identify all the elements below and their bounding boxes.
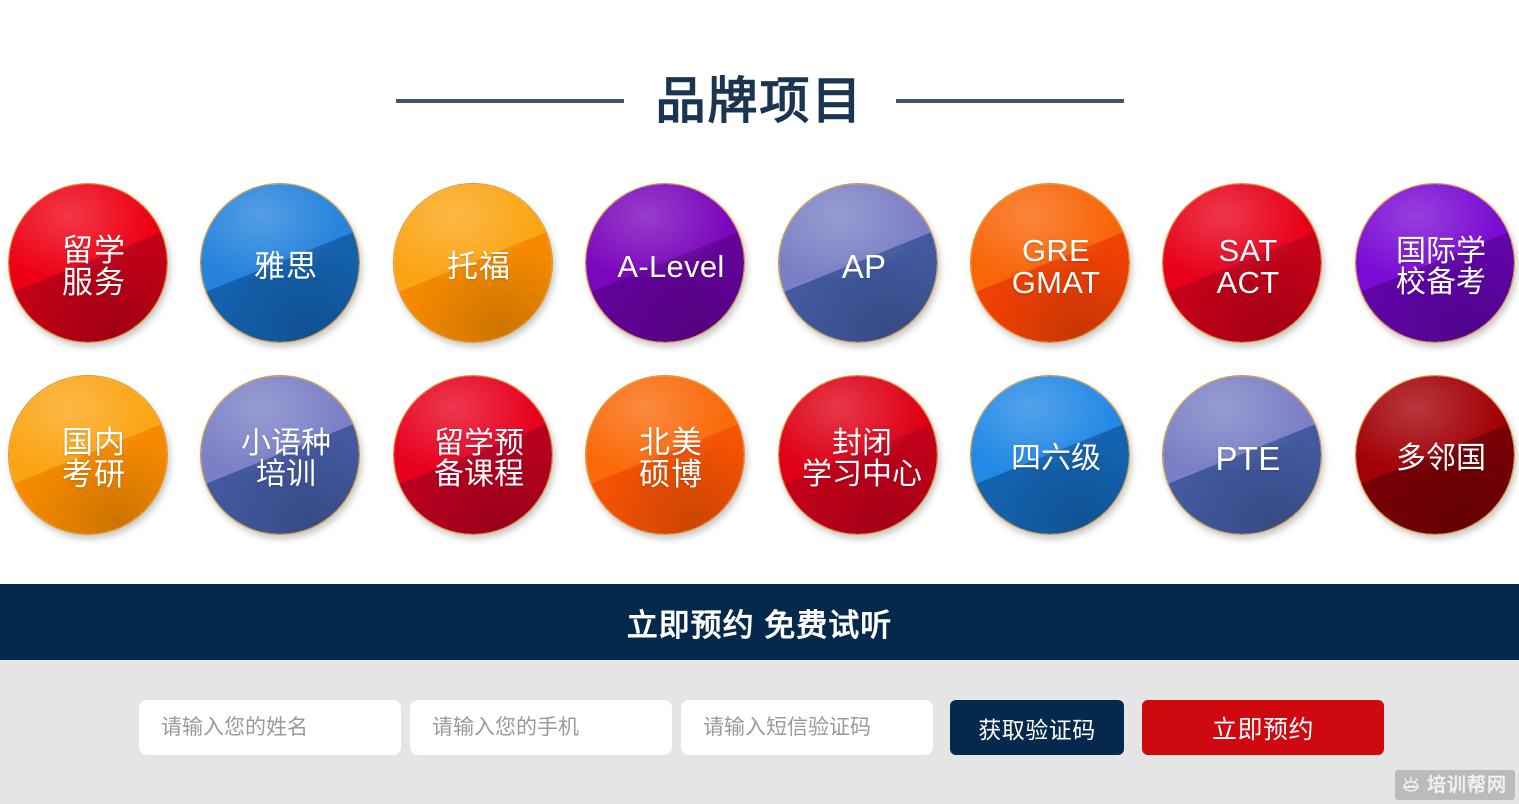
program-label: 北美 硕博 bbox=[639, 427, 703, 491]
program-bubble-xiaoyuzhong[interactable]: 小语种 培训 bbox=[200, 375, 360, 535]
program-row-2: 国内 考研 小语种 培训 留学预 备课程 北美 硕博 封闭 学习中心 bbox=[8, 375, 1512, 567]
program-label: SAT ACT bbox=[1217, 235, 1280, 299]
section-title-row: 品牌项目 bbox=[0, 58, 1519, 144]
program-grid: 留学 服务 雅思 托福 A-Level AP bbox=[8, 183, 1512, 567]
program-bubble-beimeishuobo[interactable]: 北美 硕博 bbox=[585, 375, 745, 535]
program-bubble-siliuji[interactable]: 四六级 bbox=[970, 375, 1130, 535]
program-row-1: 留学 服务 雅思 托福 A-Level AP bbox=[8, 183, 1512, 375]
program-label: 国内 考研 bbox=[62, 427, 126, 491]
program-label: AP bbox=[842, 250, 887, 284]
program-label: 封闭 学习中心 bbox=[802, 428, 922, 490]
brand-programs-page: 品牌项目 留学 服务 雅思 托福 A-Level bbox=[0, 0, 1519, 804]
program-label: 雅思 bbox=[254, 251, 318, 283]
program-label: PTE bbox=[1215, 442, 1280, 476]
program-bubble-gre-gmat[interactable]: GRE GMAT bbox=[970, 183, 1130, 343]
program-bubble-fengbixuexi[interactable]: 封闭 学习中心 bbox=[778, 375, 938, 535]
title-divider-left bbox=[396, 99, 624, 103]
program-bubble-a-level[interactable]: A-Level bbox=[585, 183, 745, 343]
program-bubble-yasi[interactable]: 雅思 bbox=[200, 183, 360, 343]
program-bubble-sat-act[interactable]: SAT ACT bbox=[1162, 183, 1322, 343]
program-bubble-liuxuefuwu[interactable]: 留学 服务 bbox=[8, 183, 168, 343]
program-bubble-duolinguo[interactable]: 多邻国 bbox=[1355, 375, 1515, 535]
phone-input[interactable] bbox=[410, 700, 672, 755]
program-bubble-pte[interactable]: PTE bbox=[1162, 375, 1322, 535]
reservation-form-strip: 获取验证码 立即预约 bbox=[0, 660, 1519, 804]
program-label: 国际学 校备考 bbox=[1396, 236, 1486, 298]
program-label: 多邻国 bbox=[1396, 443, 1486, 474]
site-watermark: 培训帮网 bbox=[1395, 770, 1515, 800]
cta-banner: 立即预约 免费试听 bbox=[0, 584, 1519, 660]
program-label: 四六级 bbox=[1011, 443, 1101, 474]
sms-code-input[interactable] bbox=[681, 700, 933, 755]
program-bubble-guojixuexiao[interactable]: 国际学 校备考 bbox=[1355, 183, 1515, 343]
watermark-label: 培训帮网 bbox=[1427, 776, 1507, 795]
page-title: 品牌项目 bbox=[656, 76, 864, 126]
title-divider-right bbox=[896, 99, 1124, 103]
program-bubble-guoneikaoyan[interactable]: 国内 考研 bbox=[8, 375, 168, 535]
program-label: 留学 服务 bbox=[62, 235, 126, 299]
program-bubble-liuxueyubei[interactable]: 留学预 备课程 bbox=[393, 375, 553, 535]
program-bubble-tuofu[interactable]: 托福 bbox=[393, 183, 553, 343]
program-bubble-ap[interactable]: AP bbox=[778, 183, 938, 343]
program-label: 托福 bbox=[447, 251, 511, 283]
program-label: 留学预 备课程 bbox=[434, 428, 524, 490]
cta-banner-title: 立即预约 免费试听 bbox=[627, 600, 893, 645]
get-code-button[interactable]: 获取验证码 bbox=[950, 700, 1124, 755]
program-label: 小语种 培训 bbox=[241, 428, 331, 490]
program-label: GRE GMAT bbox=[1012, 235, 1100, 299]
reservation-form: 获取验证码 立即预约 bbox=[139, 700, 1384, 755]
submit-reservation-button[interactable]: 立即预约 bbox=[1142, 700, 1384, 755]
sun-eye-icon bbox=[1401, 775, 1421, 795]
program-label: A-Level bbox=[617, 251, 724, 283]
name-input[interactable] bbox=[139, 700, 401, 755]
